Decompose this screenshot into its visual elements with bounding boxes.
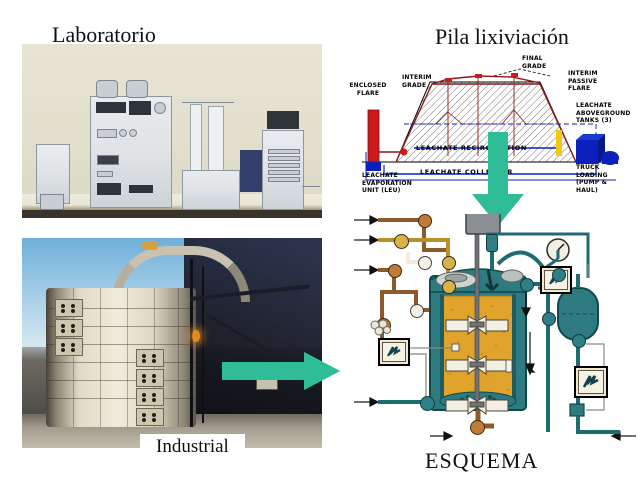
lab-glass-column-2 xyxy=(208,106,224,174)
lab-rack-top-unit xyxy=(96,80,118,98)
industrial-lamp xyxy=(192,330,200,342)
label-truck-loading: TRUCK LOADING (PUMP & HAUL) xyxy=(576,164,608,194)
lab-small-pump xyxy=(40,194,64,210)
esquema-title: ESQUEMA xyxy=(425,448,538,474)
valve-condensate[interactable] xyxy=(542,312,556,326)
arrow-industrial-to-esquema xyxy=(222,350,342,392)
lab-chiller xyxy=(262,130,304,210)
bioreactor-schematic xyxy=(352,214,638,446)
valve-feed-3[interactable] xyxy=(418,256,432,270)
valve-feed-5[interactable] xyxy=(442,280,456,294)
valve-gas-outlet[interactable] xyxy=(486,234,498,252)
control-instrument-left[interactable] xyxy=(378,338,410,366)
valve-condenser-inlet[interactable] xyxy=(552,268,566,282)
control-instrument-lower-right[interactable] xyxy=(574,366,608,398)
label-interim-grade: INTERIM GRADE xyxy=(402,74,432,89)
label-leachate-aboveground-tanks: LEACHATE ABOVEGROUND TANKS (3) xyxy=(576,102,631,125)
lab-reactor-base xyxy=(182,170,240,210)
valve-feed-6[interactable] xyxy=(388,264,402,278)
label-final-grade: FINAL GRADE xyxy=(522,55,546,70)
valve-bottom-inlet[interactable] xyxy=(420,396,435,411)
valve-feed-2[interactable] xyxy=(418,214,432,228)
lab-bench-edge xyxy=(22,210,322,218)
industrial-column xyxy=(190,259,193,427)
label-leachate-evaporation-unit: LEACHATE EVAPORATION UNIT (LEU) xyxy=(362,172,412,195)
valve-feed-1[interactable] xyxy=(394,234,409,249)
sterile-filter-icon xyxy=(368,318,392,338)
valve-harvest[interactable] xyxy=(470,420,485,435)
industrial-column-2 xyxy=(202,267,204,422)
industrial-title: Industrial xyxy=(140,434,245,461)
valve-feed-4[interactable] xyxy=(442,256,456,270)
valve-vent[interactable] xyxy=(520,278,534,292)
industrial-top-fitting xyxy=(142,242,158,250)
industrial-photo xyxy=(22,238,322,448)
lab-rack-top-unit-2 xyxy=(126,80,148,98)
valve-condenser-outlet[interactable] xyxy=(572,334,586,348)
industrial-fermenter-vessel xyxy=(46,288,196,427)
pila-title: Pila lixiviación xyxy=(435,24,569,50)
label-interim-passive-flare: INTERIM PASSIVE FLARE xyxy=(568,70,598,93)
label-enclosed-flare: ENCLOSED FLARE xyxy=(344,82,392,97)
lab-glass-column xyxy=(190,104,202,174)
valve-feed-7[interactable] xyxy=(410,304,424,318)
lab-instrument-rack xyxy=(90,96,172,208)
laboratory-photo xyxy=(22,44,322,218)
